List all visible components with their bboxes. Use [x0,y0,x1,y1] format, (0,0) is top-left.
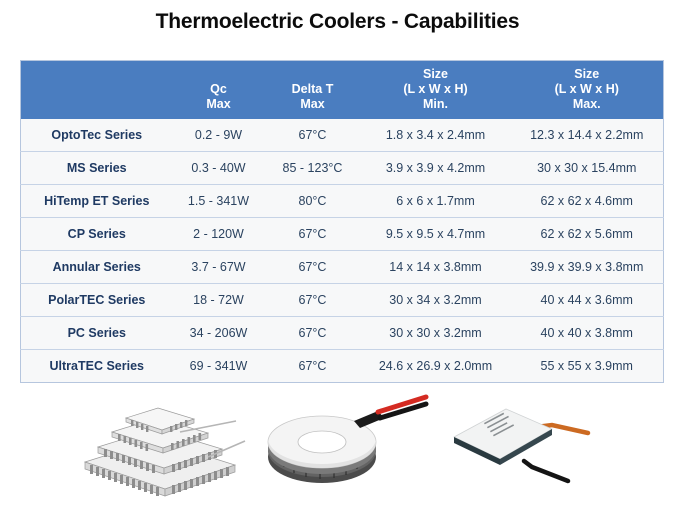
table-header-row: Qc Max Delta T Max Size (L x W x H) Min.… [21,61,664,120]
column-header-size-max-line3: Max. [513,97,662,112]
column-header-size-max: Size (L x W x H) Max. [511,61,664,120]
cell-series-name: OptoTec Series [21,119,173,152]
cell-size-max: 62 x 62 x 4.6mm [511,185,664,218]
cell-series-name: PC Series [21,317,173,350]
table-row: CP Series2 - 120W67°C9.5 x 9.5 x 4.7mm62… [21,218,664,251]
cell-qc-max: 0.2 - 9W [173,119,265,152]
product-photo-strip [0,385,675,506]
column-header-delta-t-max: Delta T Max [265,61,361,120]
cell-delta-t-max: 67°C [265,251,361,284]
table-row: PC Series34 - 206W67°C30 x 30 x 3.2mm40 … [21,317,664,350]
cell-size-max: 39.9 x 39.9 x 3.8mm [511,251,664,284]
cell-size-min: 3.9 x 3.9 x 4.2mm [361,152,511,185]
cell-size-min: 30 x 34 x 3.2mm [361,284,511,317]
cell-delta-t-max: 67°C [265,317,361,350]
column-header-size-min-line3: Min. [363,97,509,112]
column-header-size-min: Size (L x W x H) Min. [361,61,511,120]
cell-qc-max: 69 - 341W [173,350,265,383]
cell-size-max: 40 x 44 x 3.6mm [511,284,664,317]
cell-series-name: CP Series [21,218,173,251]
cell-size-max: 62 x 62 x 5.6mm [511,218,664,251]
column-header-series [21,61,173,120]
column-header-size-min-line1: Size [363,67,509,82]
table-body: OptoTec Series0.2 - 9W67°C1.8 x 3.4 x 2.… [21,119,664,383]
column-header-delta-line1: Delta T [267,82,359,97]
cell-size-max: 12.3 x 14.4 x 2.2mm [511,119,664,152]
cell-size-min: 9.5 x 9.5 x 4.7mm [361,218,511,251]
cell-qc-max: 0.3 - 40W [173,152,265,185]
cell-qc-max: 2 - 120W [173,218,265,251]
cell-series-name: PolarTEC Series [21,284,173,317]
cell-size-max: 40 x 40 x 3.8mm [511,317,664,350]
cell-delta-t-max: 85 - 123°C [265,152,361,185]
cell-size-max: 30 x 30 x 15.4mm [511,152,664,185]
column-header-qc-line2: Max [175,97,263,112]
multistage-stacked-cooler-photo [60,385,260,506]
flat-module-cooler-photo [440,385,650,506]
cell-qc-max: 18 - 72W [173,284,265,317]
cell-delta-t-max: 67°C [265,218,361,251]
cell-size-min: 6 x 6 x 1.7mm [361,185,511,218]
column-header-qc-line1: Qc [175,82,263,97]
cell-delta-t-max: 67°C [265,350,361,383]
column-header-qc-max: Qc Max [173,61,265,120]
column-header-size-max-line2: (L x W x H) [513,82,662,97]
cell-qc-max: 34 - 206W [173,317,265,350]
cell-size-min: 1.8 x 3.4 x 2.4mm [361,119,511,152]
cell-delta-t-max: 67°C [265,119,361,152]
cell-size-max: 55 x 55 x 3.9mm [511,350,664,383]
cell-size-min: 30 x 30 x 3.2mm [361,317,511,350]
table-row: OptoTec Series0.2 - 9W67°C1.8 x 3.4 x 2.… [21,119,664,152]
capabilities-table: Qc Max Delta T Max Size (L x W x H) Min.… [20,60,664,383]
table-row: HiTemp ET Series1.5 - 341W80°C6 x 6 x 1.… [21,185,664,218]
table-header: Qc Max Delta T Max Size (L x W x H) Min.… [21,61,664,120]
cell-delta-t-max: 67°C [265,284,361,317]
column-header-size-max-line1: Size [513,67,662,82]
cell-size-min: 14 x 14 x 3.8mm [361,251,511,284]
table-row: PolarTEC Series18 - 72W67°C30 x 34 x 3.2… [21,284,664,317]
cell-series-name: UltraTEC Series [21,350,173,383]
cell-series-name: MS Series [21,152,173,185]
table-row: Annular Series3.7 - 67W67°C14 x 14 x 3.8… [21,251,664,284]
cell-series-name: HiTemp ET Series [21,185,173,218]
annular-ring-cooler-photo [250,385,430,506]
table-row: MS Series0.3 - 40W85 - 123°C3.9 x 3.9 x … [21,152,664,185]
cell-delta-t-max: 80°C [265,185,361,218]
page-title: Thermoelectric Coolers - Capabilities [0,10,675,34]
table-row: UltraTEC Series69 - 341W67°C24.6 x 26.9 … [21,350,664,383]
cell-qc-max: 3.7 - 67W [173,251,265,284]
column-header-delta-line2: Max [267,97,359,112]
cell-qc-max: 1.5 - 341W [173,185,265,218]
column-header-size-min-line2: (L x W x H) [363,82,509,97]
cell-series-name: Annular Series [21,251,173,284]
cell-size-min: 24.6 x 26.9 x 2.0mm [361,350,511,383]
